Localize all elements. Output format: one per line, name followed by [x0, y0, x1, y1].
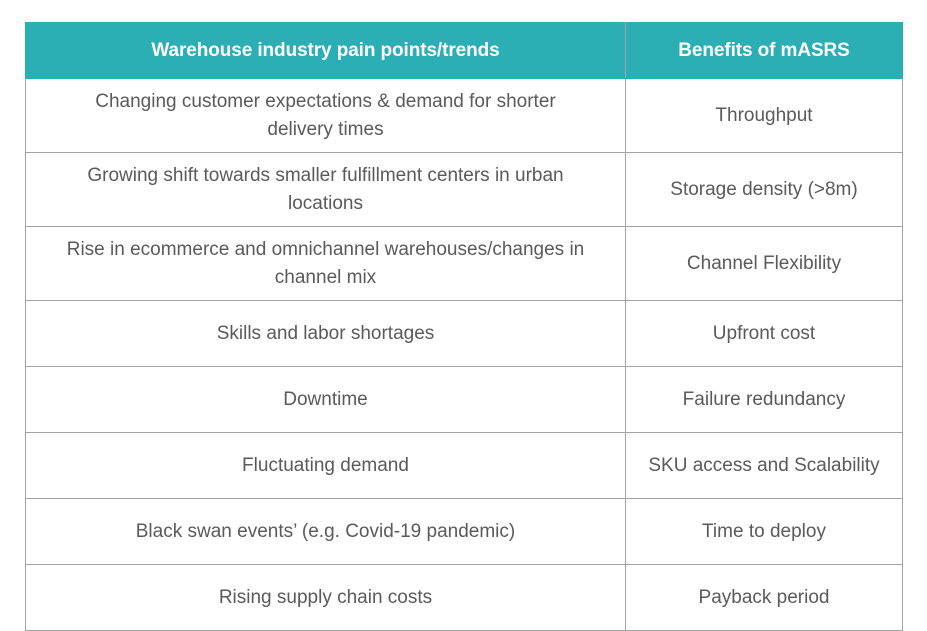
- cell-benefit: Payback period: [626, 565, 903, 631]
- benefit-text: Throughput: [644, 102, 884, 130]
- benefit-text: Upfront cost: [644, 320, 884, 348]
- column-header-benefits: Benefits of mASRS: [626, 23, 903, 79]
- benefit-text: SKU access and Scalability: [644, 452, 884, 480]
- table-row: Downtime Failure redundancy: [26, 367, 903, 433]
- column-header-pain-points: Warehouse industry pain points/trends: [26, 23, 626, 79]
- cell-pain-point: Fluctuating demand: [26, 433, 626, 499]
- pain-point-text: Growing shift towards smaller fulfillmen…: [66, 162, 586, 217]
- pain-point-text: Changing customer expectations & demand …: [66, 88, 586, 143]
- cell-pain-point: Rise in ecommerce and omnichannel wareho…: [26, 227, 626, 301]
- pain-point-text: Black swan events’ (e.g. Covid-19 pandem…: [44, 518, 607, 546]
- table-header-row: Warehouse industry pain points/trends Be…: [26, 23, 903, 79]
- benefit-text: Channel Flexibility: [644, 250, 884, 278]
- pain-point-text: Downtime: [44, 386, 607, 414]
- pain-point-text: Fluctuating demand: [44, 452, 607, 480]
- cell-pain-point: Skills and labor shortages: [26, 301, 626, 367]
- cell-benefit: Upfront cost: [626, 301, 903, 367]
- table-row: Rise in ecommerce and omnichannel wareho…: [26, 227, 903, 301]
- cell-pain-point: Black swan events’ (e.g. Covid-19 pandem…: [26, 499, 626, 565]
- cell-pain-point: Growing shift towards smaller fulfillmen…: [26, 153, 626, 227]
- pain-point-text: Skills and labor shortages: [44, 320, 607, 348]
- table-body: Changing customer expectations & demand …: [26, 79, 903, 631]
- table-row: Rising supply chain costs Payback period: [26, 565, 903, 631]
- table-row: Skills and labor shortages Upfront cost: [26, 301, 903, 367]
- benefit-text: Payback period: [644, 584, 884, 612]
- cell-pain-point: Downtime: [26, 367, 626, 433]
- cell-benefit: Storage density (>8m): [626, 153, 903, 227]
- pain-point-text: Rise in ecommerce and omnichannel wareho…: [66, 236, 586, 291]
- table-row: Growing shift towards smaller fulfillmen…: [26, 153, 903, 227]
- cell-pain-point: Changing customer expectations & demand …: [26, 79, 626, 153]
- table-row: Black swan events’ (e.g. Covid-19 pandem…: [26, 499, 903, 565]
- page-root: Warehouse industry pain points/trends Be…: [0, 0, 927, 627]
- benefit-text: Time to deploy: [644, 518, 884, 546]
- table-row: Changing customer expectations & demand …: [26, 79, 903, 153]
- benefit-text: Storage density (>8m): [644, 176, 884, 204]
- benefit-text: Failure redundancy: [644, 386, 884, 414]
- cell-benefit: Time to deploy: [626, 499, 903, 565]
- cell-benefit: Throughput: [626, 79, 903, 153]
- table-header: Warehouse industry pain points/trends Be…: [26, 23, 903, 79]
- comparison-table: Warehouse industry pain points/trends Be…: [25, 22, 903, 631]
- cell-benefit: Failure redundancy: [626, 367, 903, 433]
- cell-benefit: SKU access and Scalability: [626, 433, 903, 499]
- table-row: Fluctuating demand SKU access and Scalab…: [26, 433, 903, 499]
- cell-pain-point: Rising supply chain costs: [26, 565, 626, 631]
- cell-benefit: Channel Flexibility: [626, 227, 903, 301]
- pain-point-text: Rising supply chain costs: [44, 584, 607, 612]
